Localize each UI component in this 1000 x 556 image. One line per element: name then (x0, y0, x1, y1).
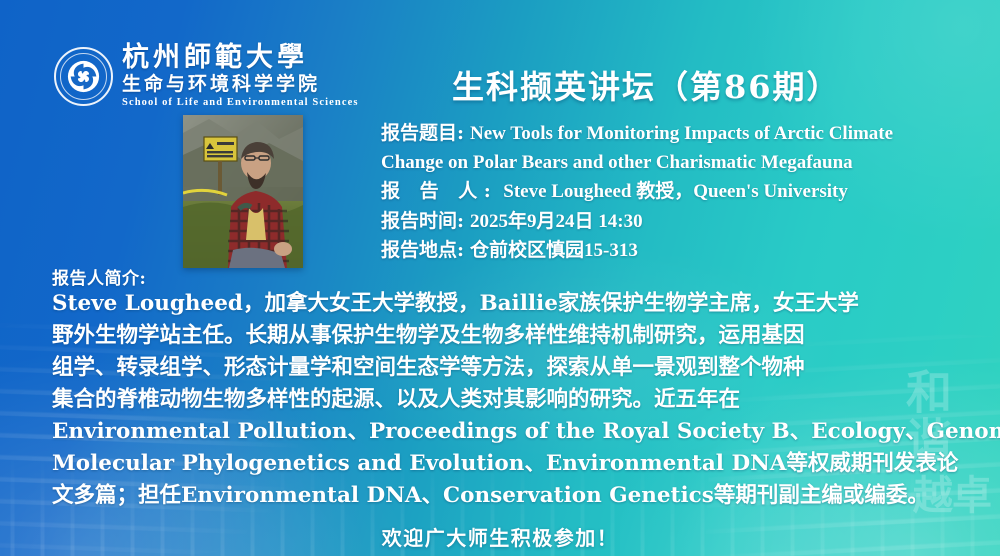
bio-line-4: 集合的脊椎动物生物多样性的起源、以及人类对其影响的研究。近五年在 (52, 384, 958, 416)
info-label-location: 报告地点: (381, 239, 464, 262)
university-logo-wordmark: 杭州師範大學 生命与环境科学学院 School of Life and Envi… (122, 44, 359, 109)
seminar-poster: 和谐 卓越 杭州師範大學 生命与环境科学学院 School of Life an… (0, 0, 1000, 556)
talk-info: 报告题目: New Tools for Monitoring Impacts o… (381, 122, 981, 268)
info-value-speaker: Steve Lougheed 教授，Queen's University (503, 180, 848, 203)
bio-line-6: Molecular Phylogenetics and Evolution、En… (52, 448, 958, 480)
info-row-location: 报告地点: 仓前校区慎园15-313 (381, 239, 981, 262)
bio-body: Steve Lougheed，加拿大女王大学教授，Baillie家族保护生物学主… (52, 288, 958, 512)
info-value-title-line2: Change on Polar Bears and other Charisma… (381, 151, 981, 174)
logo-college-name-en: School of Life and Environmental Science… (122, 98, 359, 109)
bio-line-7: 文多篇；担任Environmental DNA、Conservation Gen… (52, 480, 958, 512)
logo-university-name: 杭州師範大學 (122, 44, 359, 71)
bio-line-1: Steve Lougheed，加拿大女王大学教授，Baillie家族保护生物学主… (52, 288, 958, 320)
university-seal-icon (54, 47, 113, 106)
bio-line-5: Environmental Pollution、Proceedings of t… (52, 416, 958, 448)
info-value-location: 仓前校区慎园15-313 (470, 239, 638, 262)
speaker-photo (183, 115, 303, 268)
info-row-time: 报告时间: 2025年9月24日 14:30 (381, 210, 981, 233)
info-row-speaker: 报 告 人: Steve Lougheed 教授，Queen's Univers… (381, 180, 981, 203)
bio-heading: 报告人简介: (52, 264, 146, 289)
info-label-speaker: 报 告 人: (381, 180, 497, 203)
logo-college-name: 生命与环境科学学院 (122, 75, 359, 94)
info-value-time: 2025年9月24日 14:30 (470, 210, 643, 233)
info-label-title: 报告题目: (381, 122, 464, 145)
page-title: 生科撷英讲坛（第86期） (452, 62, 841, 108)
bio-line-2: 野外生物学站主任。长期从事保护生物学及生物多样性维持机制研究，运用基因 (52, 320, 958, 352)
bio-line-3: 组学、转录组学、形态计量学和空间生态学等方法，探索从单一景观到整个物种 (52, 352, 958, 384)
info-value-title: New Tools for Monitoring Impacts of Arct… (470, 122, 893, 145)
info-row-title: 报告题目: New Tools for Monitoring Impacts o… (381, 122, 981, 145)
info-label-time: 报告时间: (381, 210, 464, 233)
university-logo: 杭州師範大學 生命与环境科学学院 School of Life and Envi… (54, 44, 359, 109)
footer-welcome-note: 欢迎广大师生积极参加！ (0, 522, 1000, 551)
